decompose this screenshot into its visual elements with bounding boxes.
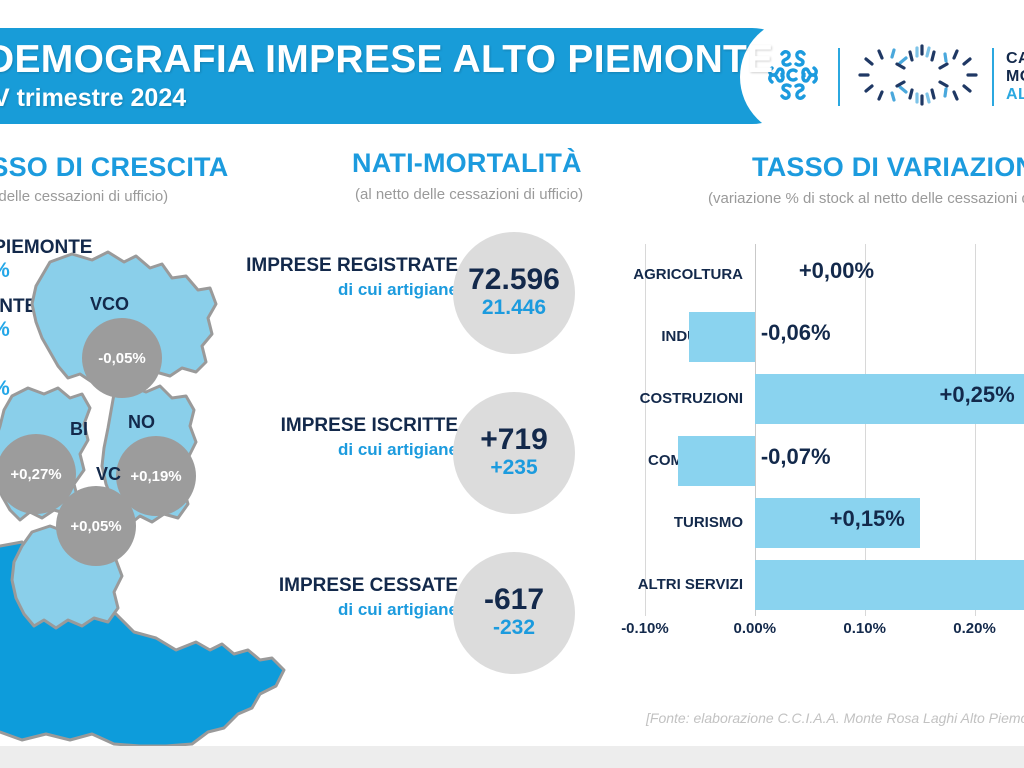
section-title-nati-mortalita: NATI-MORTALITÀ: [352, 148, 582, 179]
chart-bar-row: AGRICOLTURA+0,00%: [612, 244, 1024, 306]
page-subtitle: IV trimestre 2024: [0, 84, 186, 113]
page-title: DEMOGRAFIA IMPRESE ALTO PIEMONTE: [0, 38, 626, 82]
logo-line-2: MONTE ROSA LAGHI: [1006, 68, 1024, 86]
stat-circle: 72.596 21.446: [453, 232, 575, 354]
stat-circle: +719 +235: [453, 392, 575, 514]
stat-row-imprese-registrate: IMPRESE REGISTRATE di cui artigiane 72.5…: [230, 232, 590, 362]
stat-row-imprese-iscritte: IMPRESE ISCRITTE di cui artigiane +719 +…: [230, 392, 590, 522]
logo-line-1: CAMERA DI COMMERCIO: [1006, 50, 1024, 68]
chart-bar-row: INDUSTRIA-0,06%: [612, 306, 1024, 368]
chart-plot-area: AGRICOLTURA+0,00%INDUSTRIA-0,06%COSTRUZI…: [612, 244, 1024, 616]
stat-subvalue: 21.446: [482, 295, 546, 321]
infinity-logo-icon: [854, 44, 982, 111]
map-bubble-vco: -0,05%: [82, 318, 162, 398]
map-bubble-vc: +0,05%: [56, 486, 136, 566]
chart-bar-row: COMMERCIO-0,07%: [612, 430, 1024, 492]
stat-row-imprese-cessate: IMPRESE CESSATE di cui artigiane -617 -2…: [230, 552, 590, 682]
stat-subvalue: -232: [493, 615, 535, 641]
variation-bar-chart: AGRICOLTURA+0,00%INDUSTRIA-0,06%COSTRUZI…: [612, 244, 1024, 654]
stat-value: +719: [480, 425, 548, 455]
stat-label: IMPRESE REGISTRATE: [230, 254, 458, 278]
chart-bar-value: -0,06%: [761, 320, 831, 346]
chart-bar-value: -0,07%: [761, 444, 831, 470]
chart-x-axis: -0.10%0.00%0.10%0.20%: [612, 620, 1024, 646]
stat-value: -617: [484, 585, 544, 615]
map-label-vco: VCO: [90, 294, 129, 315]
bottom-band: [0, 746, 1024, 768]
chart-tick-label: 0.10%: [843, 620, 886, 637]
chart-tick-label: 0.00%: [734, 620, 777, 637]
map-label-no: NO: [128, 412, 155, 433]
chart-bar: [689, 312, 755, 362]
stat-circle: -617 -232: [453, 552, 575, 674]
chart-bar: [678, 436, 755, 486]
stat-value: 72.596: [468, 265, 560, 295]
stat-subvalue: +235: [490, 455, 537, 481]
map-label-bi: BI: [70, 419, 88, 440]
section-subtitle-tasso-variazione: (variazione % di stock al netto delle ce…: [708, 190, 1024, 207]
chart-bar-row: TURISMO+0,15%: [612, 492, 1024, 554]
stat-label-group: IMPRESE CESSATE di cui artigiane: [230, 574, 458, 622]
chart-tick-label: 0.20%: [953, 620, 996, 637]
chart-bar-value: +0,00%: [799, 258, 874, 284]
chart-category-label: ALTRI SERVIZI: [612, 576, 743, 593]
chart-tick-label: -0.10%: [621, 620, 669, 637]
section-title-tasso-crescita: TASSO DI CRESCITA: [0, 152, 228, 183]
section-title-tasso-variazione: TASSO DI VARIAZIONE: [752, 152, 1024, 183]
section-subtitle-tasso-crescita: (al netto delle cessazioni di ufficio): [0, 188, 168, 205]
logo-panel: CAMERA DI COMMERCIO MONTE ROSA LAGHI ALT…: [740, 18, 1024, 136]
stat-sublabel: di cui artigiane: [230, 438, 458, 463]
logo-divider-2: [992, 48, 994, 106]
chart-category-label: COSTRUZIONI: [612, 390, 743, 407]
chart-category-label: TURISMO: [612, 514, 743, 531]
stat-label-group: IMPRESE REGISTRATE di cui artigiane: [230, 254, 458, 302]
infographic-canvas: DEMOGRAFIA IMPRESE ALTO PIEMONTE IV trim…: [0, 0, 1024, 768]
logo-line-3: ALTO PIEMONTE: [1006, 86, 1024, 104]
stat-label-group: IMPRESE ISCRITTE di cui artigiane: [230, 414, 458, 462]
chart-bar-value: +0,15%: [830, 506, 905, 532]
logo-divider: [838, 48, 840, 106]
section-subtitle-nati-mortalita: (al netto delle cessazioni di ufficio): [355, 186, 583, 203]
chart-bar-value: +0,25%: [939, 382, 1014, 408]
map-label-vc: VC: [96, 464, 121, 485]
source-note: [Fonte: elaborazione C.C.I.A.A. Monte Ro…: [646, 710, 1024, 726]
logo-wordmark: CAMERA DI COMMERCIO MONTE ROSA LAGHI ALT…: [1006, 50, 1024, 104]
chart-bar: [755, 560, 1024, 610]
stat-sublabel: di cui artigiane: [230, 598, 458, 623]
chart-bar-row: ALTRI SERVIZI: [612, 554, 1024, 616]
stat-label: IMPRESE ISCRITTE: [230, 414, 458, 438]
chart-bar-row: COSTRUZIONI+0,25%: [612, 368, 1024, 430]
chart-category-label: AGRICOLTURA: [612, 266, 743, 283]
stat-sublabel: di cui artigiane: [230, 278, 458, 303]
stat-label: IMPRESE CESSATE: [230, 574, 458, 598]
